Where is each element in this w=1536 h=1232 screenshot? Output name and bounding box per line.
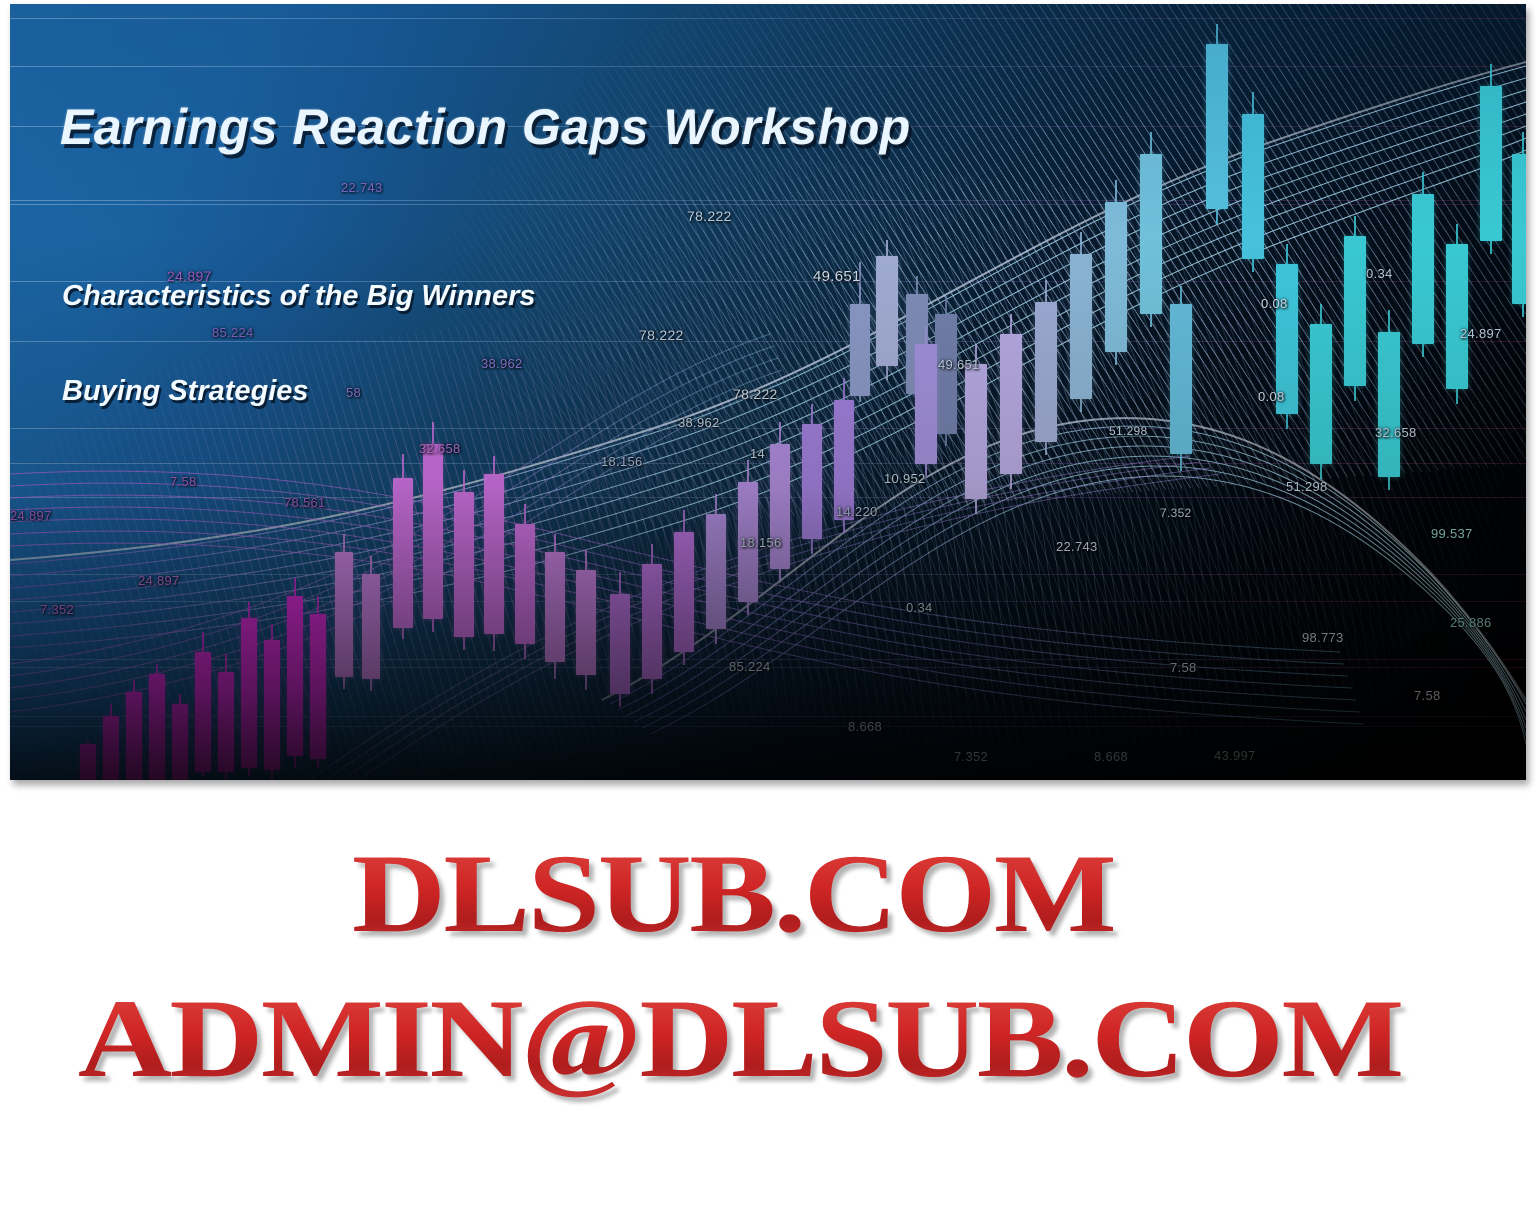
watermark-site: DLSUB.COM [352, 830, 1114, 959]
hero-banner: 22.74378.22249.65124.89778.22285.22438.9… [10, 4, 1526, 780]
banner-text-block: Earnings Reaction Gaps Workshop Characte… [10, 4, 1526, 780]
watermark-email: ADMIN@DLSUB.COM [78, 975, 1402, 1104]
page-title: Earnings Reaction Gaps Workshop [60, 98, 911, 156]
banner-subtitle-buying-strategies: Buying Strategies [62, 375, 309, 408]
banner-subtitle-characteristics: Characteristics of the Big Winners [62, 280, 536, 313]
